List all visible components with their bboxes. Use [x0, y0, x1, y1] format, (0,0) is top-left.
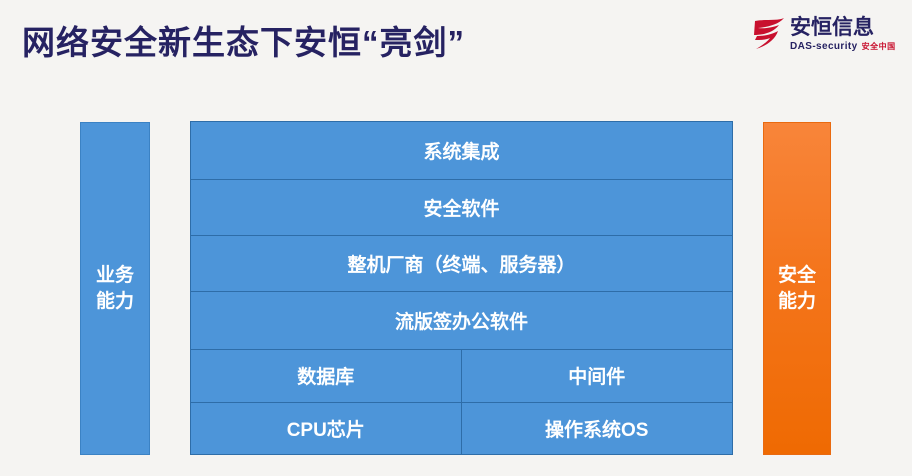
stack-row: 整机厂商（终端、服务器）: [191, 236, 732, 292]
stack-cell-label: 数据库: [297, 362, 354, 389]
left-column-label-line2: 能力: [96, 289, 134, 315]
stack-row-label: 整机厂商（终端、服务器）: [347, 250, 575, 277]
stack-cell-label: 中间件: [568, 362, 625, 389]
stack-cell-label: 操作系统OS: [545, 415, 648, 442]
stack-row: 系统集成: [191, 122, 732, 180]
stack-row-split: CPU芯片 操作系统OS: [191, 403, 732, 455]
right-column-label-line2: 能力: [778, 289, 816, 315]
right-column-label-line1: 安全: [778, 263, 816, 289]
stack-row-label: 流版签办公软件: [395, 307, 528, 334]
left-capability-column: 业务 能力: [80, 122, 150, 455]
left-column-label: 业务 能力: [96, 263, 134, 314]
stack-cell-label: CPU芯片: [287, 415, 365, 442]
stack-cell: CPU芯片: [191, 403, 462, 455]
stack-row-split: 数据库 中间件: [191, 350, 732, 403]
slide-root: 网络安全新生态下安恒“亮剑” 安恒信息 DAS-security 安全中国 业务…: [0, 0, 912, 476]
stack-cell: 数据库: [191, 350, 462, 402]
technology-stack: 系统集成 安全软件 整机厂商（终端、服务器） 流版签办公软件 数据库 中间件: [190, 121, 733, 455]
stack-row: 流版签办公软件: [191, 292, 732, 350]
stack-row: 安全软件: [191, 180, 732, 236]
capability-stack-diagram: 业务 能力 系统集成 安全软件 整机厂商（终端、服务器） 流版签办公软件 数据库: [0, 0, 912, 476]
stack-cell: 操作系统OS: [462, 403, 733, 455]
left-column-label-line1: 业务: [96, 263, 134, 289]
right-column-label: 安全 能力: [778, 263, 816, 314]
stack-row-label: 安全软件: [423, 194, 499, 221]
stack-row-label: 系统集成: [423, 137, 499, 164]
right-capability-column: 安全 能力: [763, 122, 831, 455]
stack-cell: 中间件: [462, 350, 733, 402]
